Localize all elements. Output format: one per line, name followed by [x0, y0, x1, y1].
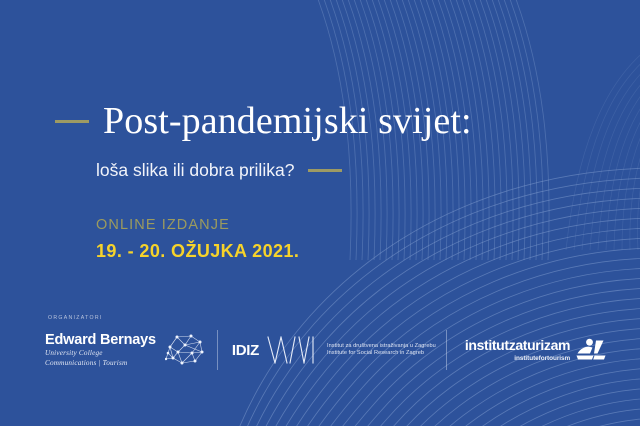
subtitle-block: loša slika ili dobra prilika?: [96, 160, 342, 181]
idiz-text-lockup: Institut za društvena istraživanja u Zag…: [327, 343, 436, 357]
bernays-tagline-2: Communications | Tourism: [45, 360, 156, 368]
title-accent-dash: [55, 120, 89, 123]
wave-pattern-corner-decoration: [470, 30, 640, 250]
brain-network-icon: [165, 333, 205, 367]
organizer-logo-edward-bernays[interactable]: Edward Bernays University College Commun…: [45, 333, 217, 367]
subtitle-accent-dash: [308, 169, 342, 172]
idiz-name: IDIZ: [232, 342, 259, 359]
edition-label: ONLINE IZDANJE: [96, 217, 230, 233]
bernays-text-lockup: Edward Bernays University College Commun…: [45, 333, 156, 367]
tourism-mark-icon: [576, 338, 606, 362]
organizer-logo-institut-za-turizam[interactable]: institutzaturizam institutefortourism: [447, 338, 606, 362]
bernays-tagline-1: University College: [45, 350, 156, 358]
bernays-name: Edward Bernays: [45, 333, 156, 348]
event-date: 19. - 20. OŽUJKA 2021.: [96, 241, 299, 262]
organizer-logo-idiz[interactable]: IDIZ Institut za društvena istraživanja …: [218, 333, 446, 367]
page-subtitle: loša slika ili dobra prilika?: [96, 160, 294, 181]
izt-name-en: institutefortourism: [465, 355, 570, 362]
poster-canvas: Post-pandemijski svijet: loša slika ili …: [0, 0, 640, 426]
organizers-label: ORGANIZATORI: [48, 315, 103, 321]
title-block: Post-pandemijski svijet:: [55, 102, 472, 140]
izt-text-lockup: institutzaturizam institutefortourism: [465, 338, 570, 362]
page-title: Post-pandemijski svijet:: [103, 102, 472, 140]
izt-name: institutzaturizam: [465, 338, 570, 353]
organizer-logos-bar: Edward Bernays University College Commun…: [45, 324, 605, 376]
idiz-name-en: Institute for Social Research in Zagreb: [327, 350, 436, 357]
idiz-name-hr: Institut za društvena istraživanja u Zag…: [327, 343, 436, 350]
zigzag-lines-icon: [266, 333, 320, 367]
